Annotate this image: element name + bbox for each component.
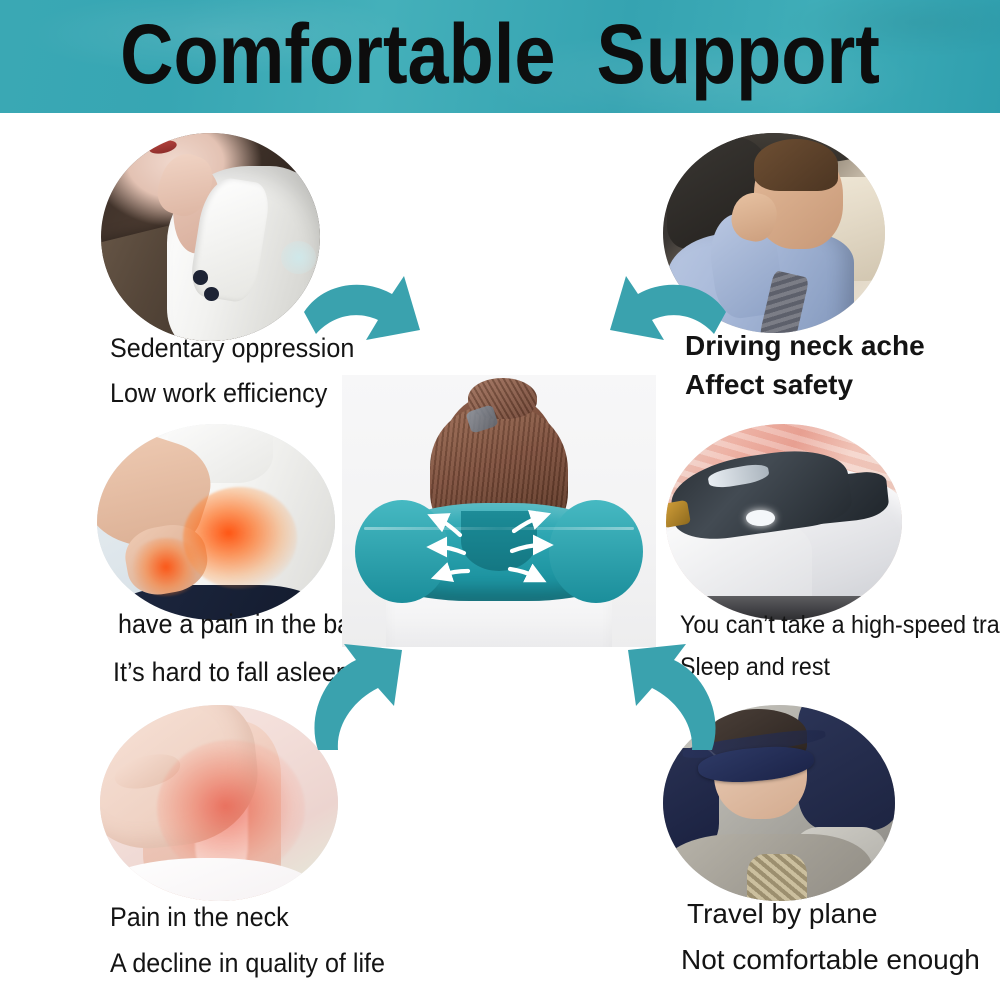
airplane-seat-right: [798, 705, 895, 830]
caption-neck-line1: Pain in the neck: [110, 902, 289, 933]
arrow-bottom-right-to-center: [592, 642, 732, 760]
driver-hair: [754, 139, 838, 191]
arrow-top-right-to-center: [598, 268, 738, 380]
train-headlight: [746, 510, 774, 526]
pain-glow: [157, 740, 305, 877]
arrow-up-left-1: [438, 519, 460, 535]
shoulder-garment: [100, 858, 319, 901]
train-scene: [666, 424, 902, 620]
arrow-top-left-to-center: [292, 268, 432, 380]
neck-pillow-product-photo: [342, 375, 656, 647]
arrow-down-left-3: [442, 571, 468, 575]
caption-plane-line1: Travel by plane: [687, 898, 877, 930]
caption-plane-line2: Not comfortable enough: [681, 944, 980, 976]
lower-back-pain-photo: [97, 424, 335, 620]
arrow-up-right-1: [514, 517, 540, 531]
office-scene: [101, 133, 320, 341]
high-speed-train-photo: [666, 424, 902, 620]
caption-neck-line2: A decline in quality of life: [110, 948, 385, 979]
back-pain-scene: [97, 424, 335, 620]
caption-sedentary-line2: Low work efficiency: [110, 378, 327, 409]
traveler-scarf: [747, 854, 807, 901]
caption-back-line1: have a pain in the back: [118, 609, 376, 640]
page-title: Comfortable Support: [60, 0, 940, 113]
caption-train-line1: You can’t take a high-speed train: [680, 611, 1000, 640]
woman-at-laptop-photo: [101, 133, 320, 341]
header-banner: Comfortable Support: [0, 0, 1000, 113]
support-direction-arrows: [342, 375, 656, 647]
lips: [148, 138, 178, 156]
arrow-right-2: [512, 545, 542, 551]
pain-glow-secondary: [130, 538, 201, 597]
arrow-bottom-left-to-center: [298, 642, 438, 760]
arrow-left-2: [438, 547, 464, 553]
button-upper: [193, 270, 208, 285]
arrow-down-right-3: [510, 569, 536, 577]
